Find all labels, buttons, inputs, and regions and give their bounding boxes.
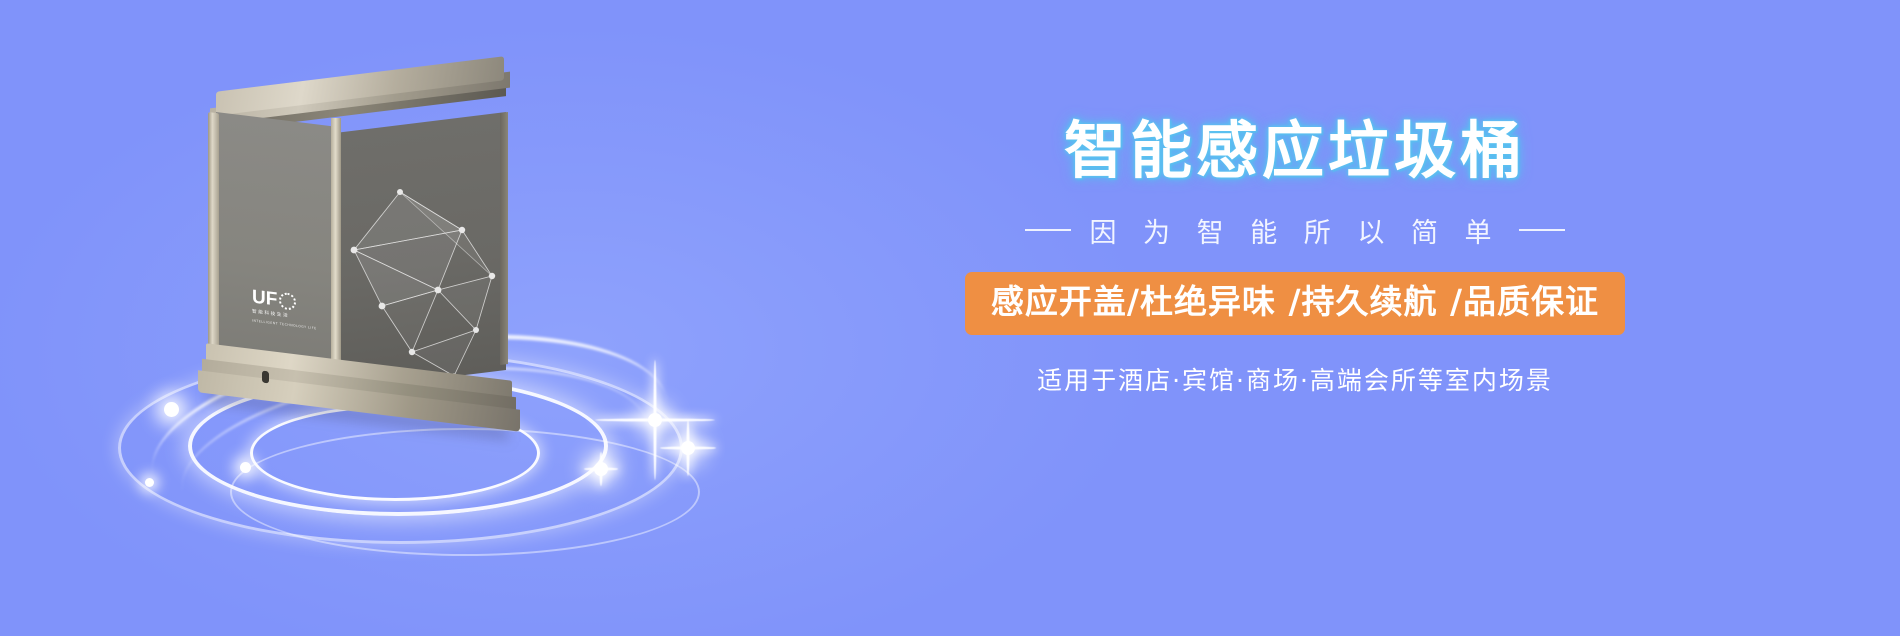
bin-panel-right xyxy=(338,112,506,391)
smart-trash-bin: UF 智能科技生活 INTELLIGENT TECHNOLOGY LIFE xyxy=(200,30,540,430)
banner-copy: 智能感应垃圾桶 因 为 智 能 所 以 简 单 感应开盖/杜绝异味 /持久续航 … xyxy=(880,118,1710,397)
bin-edge-right xyxy=(500,112,508,365)
bin-edge-left xyxy=(208,112,219,375)
product-stage: UF 智能科技生活 INTELLIGENT TECHNOLOGY LIFE xyxy=(60,20,760,540)
glow-dot-1 xyxy=(164,402,179,417)
scene-text: 适用于酒店·宾馆·商场·高端会所等室内场景 xyxy=(880,361,1710,397)
brand-ring-icon xyxy=(279,292,296,311)
bin-sensor-slot xyxy=(262,371,269,384)
subline-rule-right xyxy=(1519,229,1565,231)
feature-pill: 感应开盖/杜绝异味 /持久续航 /品质保证 xyxy=(965,272,1625,335)
banner-headline: 智能感应垃圾桶 xyxy=(880,118,1710,185)
glow-dot-3 xyxy=(145,478,154,487)
sparkle-star-small xyxy=(660,420,716,476)
sparkle-star-tiny xyxy=(584,452,618,486)
banner-subline: 因 为 智 能 所 以 简 单 xyxy=(880,211,1710,250)
bin-panel-left xyxy=(216,112,338,385)
brand-wordmark: UF xyxy=(252,287,277,309)
subline-rule-left xyxy=(1025,229,1071,231)
promo-banner: UF 智能科技生活 INTELLIGENT TECHNOLOGY LIFE 智能… xyxy=(0,0,1900,636)
bin-edge-center xyxy=(331,118,341,380)
subline-text: 因 为 智 能 所 以 简 单 xyxy=(1089,211,1500,250)
